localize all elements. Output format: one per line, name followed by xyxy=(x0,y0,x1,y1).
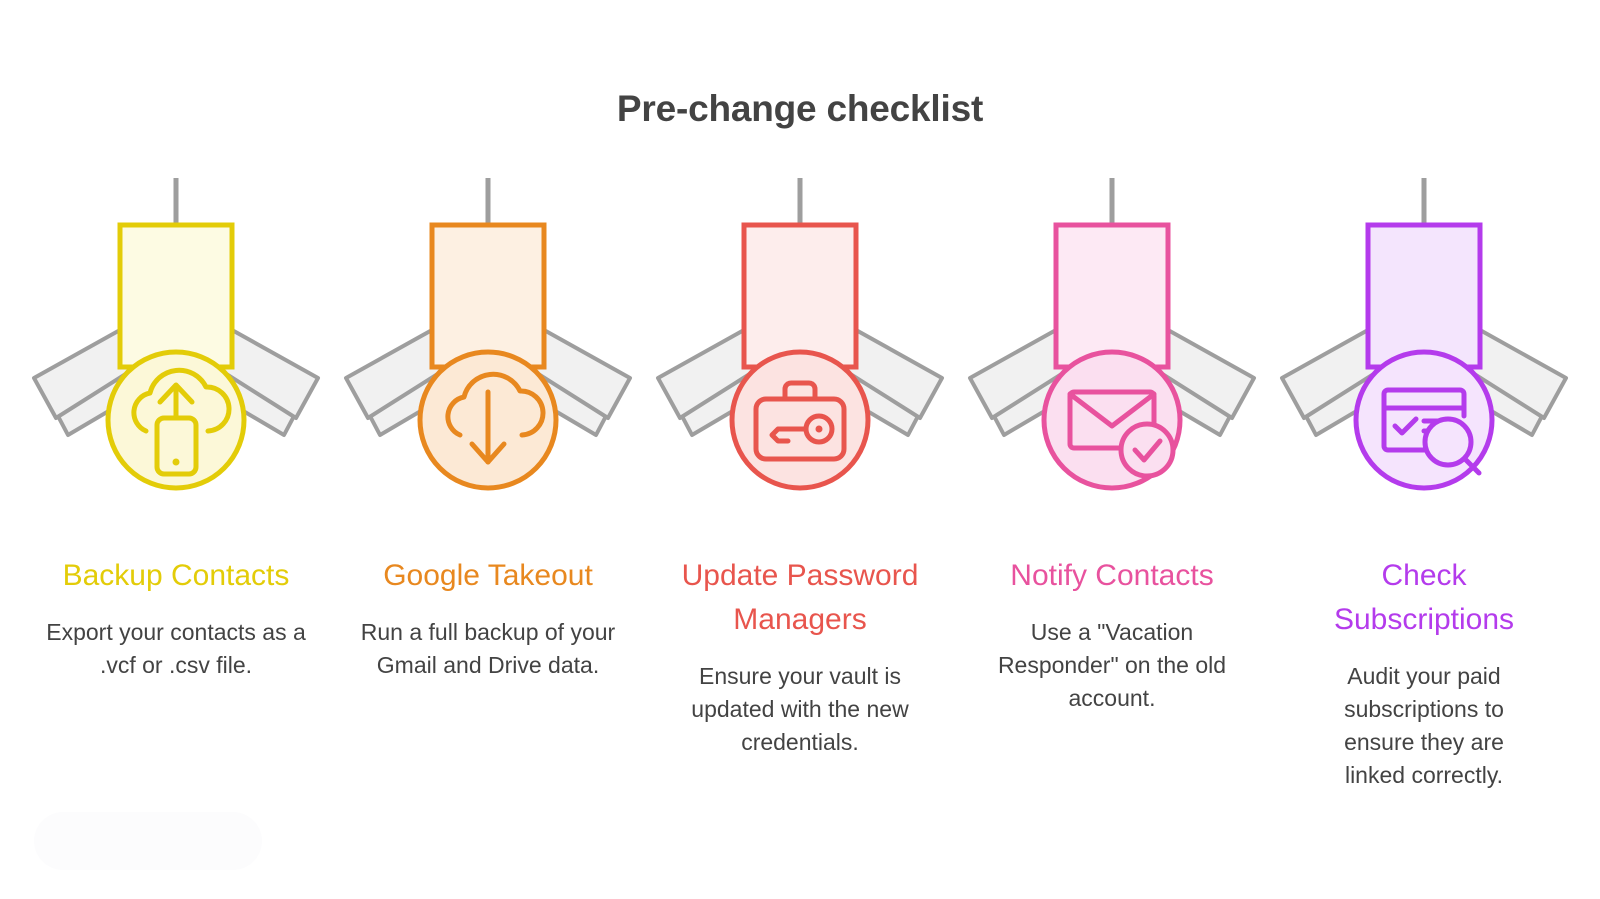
sign-board xyxy=(1056,225,1168,367)
checklist-heading: Check Subscriptions xyxy=(1294,554,1554,642)
checklist-item-backup-contacts[interactable]: Backup Contacts Export your contacts as … xyxy=(20,170,332,682)
sign-board xyxy=(744,225,856,367)
checklist-item-notify-contacts[interactable]: Notify Contacts Use a "Vacation Responde… xyxy=(956,170,1268,715)
figure-illustration xyxy=(20,170,332,540)
checklist-item-check-subscriptions[interactable]: Check Subscriptions Audit your paid subs… xyxy=(1268,170,1580,792)
figure-illustration xyxy=(956,170,1268,540)
checklist-columns: Backup Contacts Export your contacts as … xyxy=(0,170,1600,792)
checklist-heading: Google Takeout xyxy=(358,554,618,598)
checklist-item-google-takeout[interactable]: Google Takeout Run a full backup of your… xyxy=(332,170,644,682)
sign-board xyxy=(432,225,544,367)
watermark-pill xyxy=(34,812,262,870)
checklist-heading: Update Password Managers xyxy=(670,554,930,642)
figure-illustration xyxy=(332,170,644,540)
sign-board xyxy=(120,225,232,367)
page-title: Pre-change checklist xyxy=(0,88,1600,130)
checklist-heading: Notify Contacts xyxy=(982,554,1242,598)
checklist-item-update-password-managers[interactable]: Update Password Managers Ensure your vau… xyxy=(644,170,956,759)
checklist-description: Run a full backup of your Gmail and Driv… xyxy=(354,616,622,682)
checklist-description: Export your contacts as a .vcf or .csv f… xyxy=(42,616,310,682)
infographic-canvas: Pre-change checklist xyxy=(0,0,1600,899)
checklist-heading: Backup Contacts xyxy=(46,554,306,598)
figure-illustration xyxy=(1268,170,1580,540)
icon-circle xyxy=(732,352,868,488)
checklist-description: Use a "Vacation Responder" on the old ac… xyxy=(997,616,1227,715)
sign-board xyxy=(1368,225,1480,367)
checklist-description: Audit your paid subscriptions to ensure … xyxy=(1311,660,1537,792)
checklist-description: Ensure your vault is updated with the ne… xyxy=(675,660,925,759)
figure-illustration xyxy=(644,170,956,540)
